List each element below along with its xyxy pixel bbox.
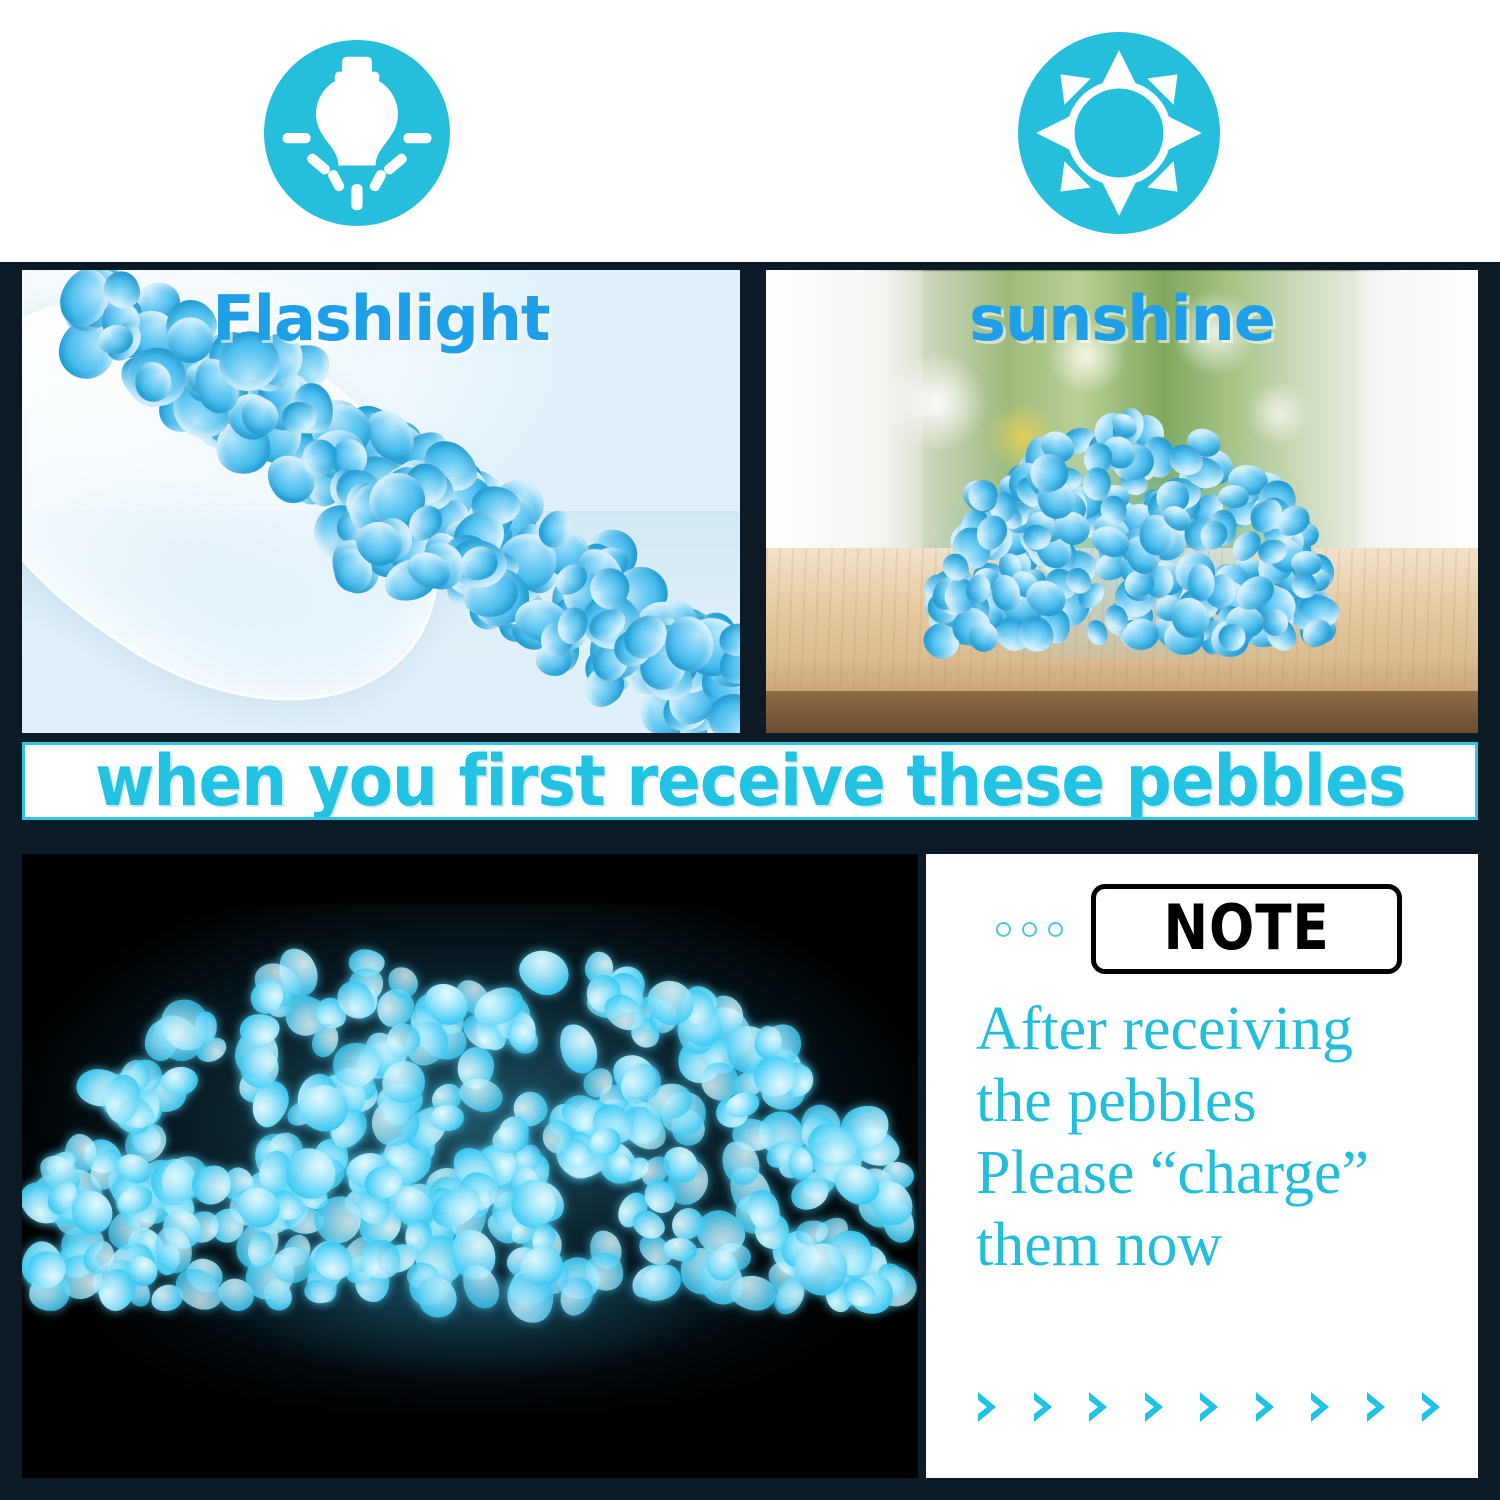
- note-badge: NOTE: [1091, 884, 1402, 974]
- note-line-4: them now: [976, 1210, 1476, 1282]
- note-line-2: the pebbles: [976, 1066, 1476, 1138]
- infographic-canvas: Flashlight sunshine when you first recei…: [0, 0, 1500, 1500]
- sun-icon: [1018, 32, 1220, 234]
- note-dots: [996, 922, 1063, 937]
- bottom-frame: NOTE After receiving the pebbles Please …: [0, 832, 1500, 1500]
- glow-reflection: [94, 1278, 847, 1415]
- light-bulb-icon: [264, 40, 450, 226]
- dot-icon: [1048, 922, 1063, 937]
- dot-icon: [1022, 922, 1037, 937]
- sunshine-photo: sunshine: [766, 270, 1478, 733]
- flashlight-label: Flashlight: [212, 282, 549, 355]
- chevron-right-icon: [1196, 1390, 1222, 1424]
- chevron-right-icon: [1141, 1390, 1167, 1424]
- note-line-1: After receiving: [976, 994, 1476, 1066]
- glowing-pebble-pile: [40, 954, 900, 1303]
- chevron-right-icon: [1085, 1390, 1111, 1424]
- headline-text: when you first receive these pebbles: [95, 746, 1405, 816]
- flashlight-photo: Flashlight: [22, 270, 740, 733]
- note-header: NOTE: [926, 886, 1478, 972]
- note-body: After receiving the pebbles Please “char…: [976, 994, 1476, 1282]
- dark-glow-photo: [22, 854, 918, 1478]
- note-label: NOTE: [1164, 897, 1330, 959]
- sunshine-label: sunshine: [969, 282, 1275, 355]
- pebble-pile: [937, 427, 1321, 640]
- chevron-right-icon: [1252, 1390, 1278, 1424]
- chevron-right-icon: [1030, 1390, 1056, 1424]
- icon-row: [0, 0, 1500, 262]
- chevron-right-icon: [1307, 1390, 1333, 1424]
- chevron-right-icon: [1363, 1390, 1389, 1424]
- note-line-3: Please “charge”: [976, 1138, 1476, 1210]
- chevron-row: [974, 1390, 1444, 1424]
- headline-band: when you first receive these pebbles: [22, 742, 1478, 820]
- chevron-right-icon: [974, 1390, 1000, 1424]
- plank-edge: [766, 691, 1478, 733]
- note-panel: NOTE After receiving the pebbles Please …: [926, 854, 1478, 1478]
- glowing-pebble: [430, 1104, 465, 1132]
- dot-icon: [996, 922, 1011, 937]
- chevron-right-icon: [1418, 1390, 1444, 1424]
